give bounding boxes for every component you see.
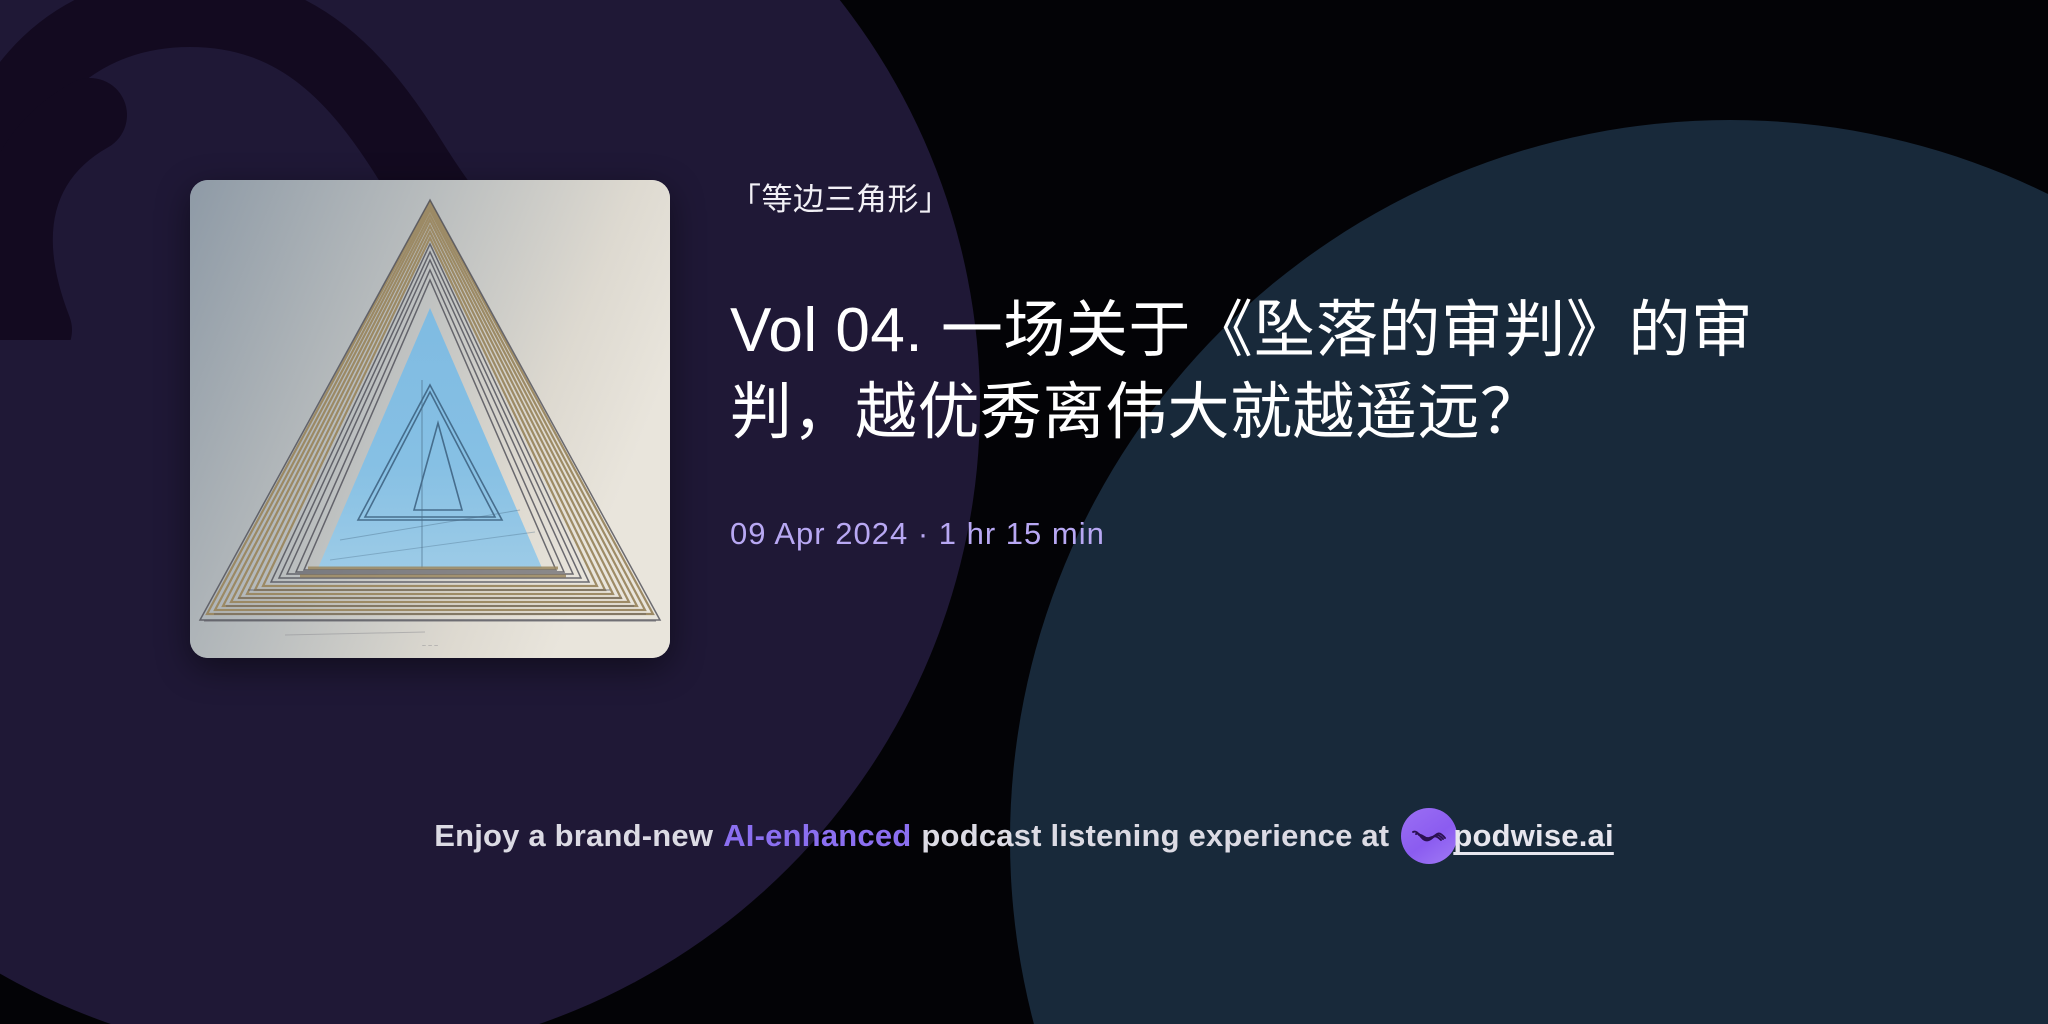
footer-tagline: Enjoy a brand-new AI-enhanced podcast li… <box>0 808 2048 864</box>
episode-date-duration: 09 Apr 2024 · 1 hr 15 min <box>730 516 1960 552</box>
episode-title: Vol 04. 一场关于《坠落的审判》的审判，越优秀离伟大就越遥远？ <box>730 290 1860 454</box>
podcast-share-card: ~ ~ ~ 「等边三角形」 Vol 04. 一场关于《坠落的审判》的审判，越优秀… <box>0 0 2048 1024</box>
tagline-highlight: AI-enhanced <box>723 818 911 854</box>
brand-link-wrap[interactable]: podwise.ai <box>1401 808 1613 864</box>
podwise-link[interactable]: podwise.ai <box>1453 818 1613 854</box>
tagline-part-2: podcast listening experience at <box>921 818 1389 854</box>
tagline-part-1: Enjoy a brand-new <box>434 818 713 854</box>
show-name: 「等边三角形」 <box>730 180 1960 220</box>
svg-text:~ ~ ~: ~ ~ ~ <box>422 643 438 650</box>
podwise-logo-icon <box>1401 808 1457 864</box>
episode-meta: 「等边三角形」 Vol 04. 一场关于《坠落的审判》的审判，越优秀离伟大就越遥… <box>730 180 1960 552</box>
episode-artwork[interactable]: ~ ~ ~ <box>190 180 670 658</box>
